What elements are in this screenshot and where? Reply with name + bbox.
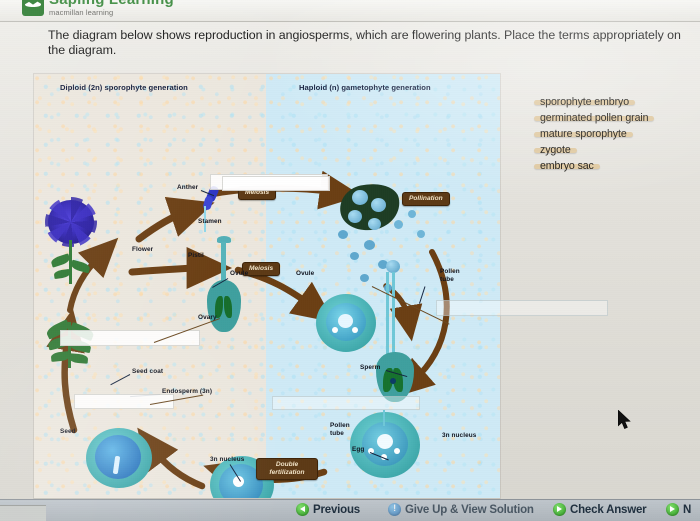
check-answer-label: Check Answer bbox=[570, 504, 646, 516]
next-label: N bbox=[683, 504, 691, 516]
term-zygote[interactable]: zygote bbox=[534, 148, 577, 153]
label-pistil: Pistil bbox=[188, 252, 204, 260]
label-3n-nucleus-right: 3n nucleus bbox=[442, 432, 476, 440]
label-ovule-left: Ovule bbox=[230, 270, 248, 278]
label-sperm: Sperm bbox=[360, 364, 380, 372]
label-seed-coat: Seed coat bbox=[132, 368, 163, 376]
label-anther: Anther bbox=[177, 184, 198, 192]
angiosperm-life-cycle-diagram: Diploid (2n) sporophyte generation Haplo… bbox=[34, 74, 500, 498]
blank-right-lower-dropzone[interactable] bbox=[436, 300, 608, 316]
process-label-double-fertilization: Double fertilization bbox=[256, 458, 318, 480]
bottom-left-partial-control bbox=[0, 505, 46, 521]
term-bank: sporophyte embryo germinated pollen grai… bbox=[534, 100, 700, 180]
term-embryo-sac[interactable]: embryo sac bbox=[534, 164, 600, 169]
blank-embryo-sac-dropzone[interactable] bbox=[222, 176, 330, 191]
label-stamen: Stamen bbox=[198, 218, 222, 226]
label-egg: Egg bbox=[352, 446, 364, 454]
question-prompt: The diagram below shows reproduction in … bbox=[48, 28, 700, 58]
label-seed: Seed bbox=[60, 428, 76, 436]
label-ovule-right: Ovule bbox=[296, 270, 314, 278]
double-fert-line1: Double bbox=[276, 461, 298, 468]
term-mature-sporophyte[interactable]: mature sporophyte bbox=[534, 132, 633, 137]
action-bar: Previous Give Up & View Solution Check A… bbox=[0, 499, 700, 521]
blank-zygote-dropzone[interactable] bbox=[272, 396, 420, 410]
check-answer-button[interactable]: Check Answer bbox=[553, 503, 646, 516]
circle-arrow-left-icon bbox=[296, 503, 309, 516]
brand-title: Sapling Learning bbox=[49, 0, 174, 8]
app-header: Sapling Learning macmillan learning bbox=[0, 0, 700, 22]
pollen-tube-bottom-line1: Pollen bbox=[330, 422, 350, 429]
pollen-tube-bottom-line2: tube bbox=[330, 430, 344, 437]
application-window: Sapling Learning macmillan learning The … bbox=[0, 0, 700, 521]
next-button[interactable]: N bbox=[666, 503, 691, 516]
double-fert-line2: fertilization bbox=[269, 469, 304, 476]
pistil-illustration bbox=[202, 236, 246, 352]
previous-button[interactable]: Previous bbox=[296, 503, 360, 516]
process-label-pollination: Pollination bbox=[402, 192, 450, 206]
pollen-tube-right-line2: tube bbox=[440, 276, 454, 283]
label-3n-nucleus-left: 3n nucleus bbox=[210, 456, 244, 464]
brand-subtitle: macmillan learning bbox=[49, 8, 113, 17]
circle-arrow-right-icon bbox=[553, 503, 566, 516]
label-flower: Flower bbox=[132, 246, 153, 254]
sapling-leaf-logo-icon bbox=[22, 0, 44, 16]
germinated-pollen-grain-illustration bbox=[368, 260, 432, 410]
label-pollen-tube-right: Pollen tube bbox=[440, 268, 460, 283]
term-sporophyte-embryo[interactable]: sporophyte embryo bbox=[534, 100, 635, 105]
circle-arrow-right-next-icon bbox=[666, 503, 679, 516]
term-germinated-pollen-grain[interactable]: germinated pollen grain bbox=[534, 116, 654, 121]
circle-flag-icon bbox=[388, 503, 401, 516]
label-pollen-tube-bottom: Pollen tube bbox=[330, 422, 350, 437]
previous-label: Previous bbox=[313, 504, 360, 516]
give-up-label: Give Up & View Solution bbox=[405, 504, 534, 516]
give-up-button[interactable]: Give Up & View Solution bbox=[388, 503, 534, 516]
seed-illustration bbox=[86, 426, 162, 492]
pollen-tube-right-line1: Pollen bbox=[440, 268, 460, 275]
